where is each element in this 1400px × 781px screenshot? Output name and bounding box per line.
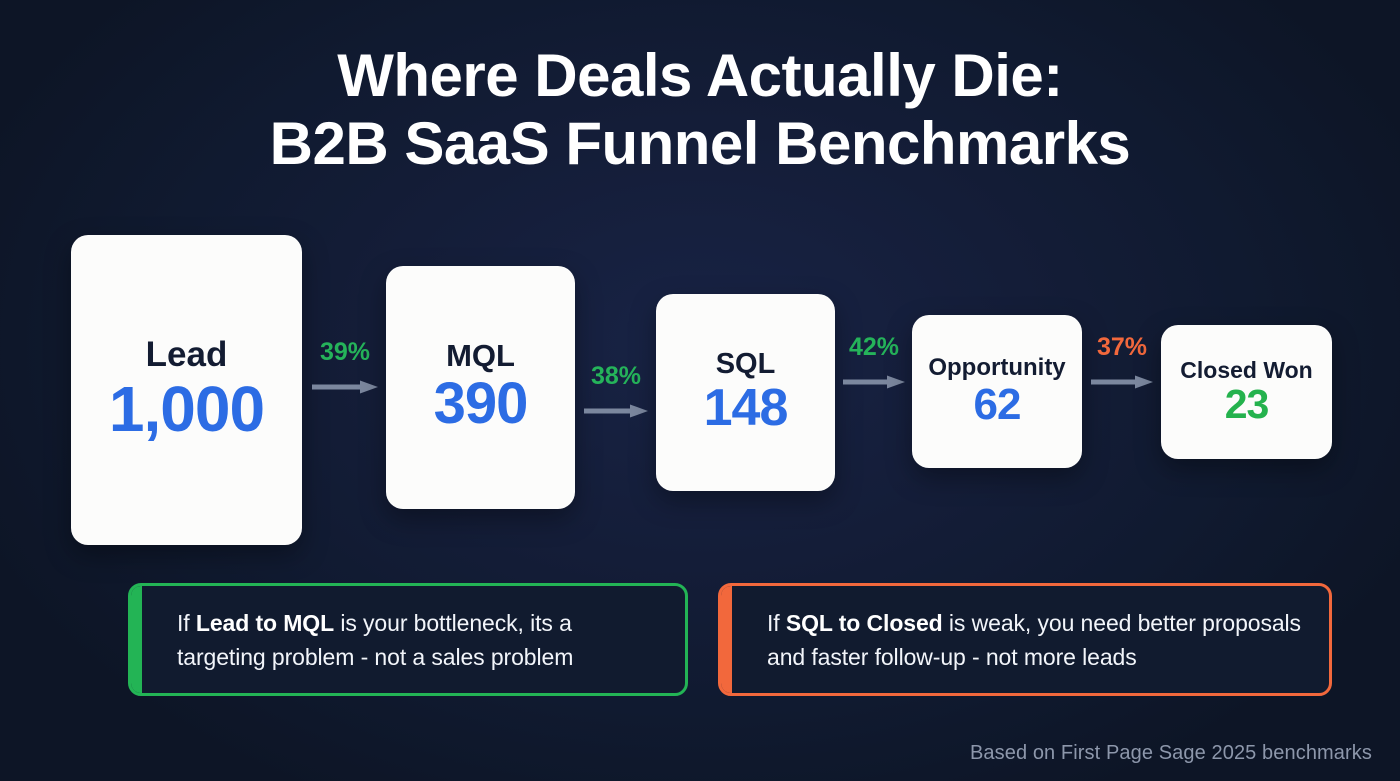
title-line-1: Where Deals Actually Die: [0, 42, 1400, 110]
funnel-connector-sql-to-opportunity: 42% [838, 335, 910, 389]
funnel-stage-lead: Lead 1,000 [71, 235, 302, 545]
arrow-right-icon [1091, 375, 1153, 389]
funnel-connector-lead-to-mql: 39% [306, 340, 384, 394]
conversion-rate-label: 42% [849, 335, 899, 360]
source-footnote: Based on First Page Sage 2025 benchmarks [970, 742, 1372, 765]
conversion-rate-label: 37% [1097, 335, 1147, 360]
arrow-right-icon [584, 404, 648, 418]
stage-label: Closed Won [1180, 358, 1312, 382]
funnel-stage-closed-won: Closed Won 23 [1161, 325, 1332, 459]
stage-value: 390 [434, 374, 528, 435]
callout-text: If SQL to Closed is weak, you need bette… [721, 606, 1329, 674]
infographic-root: Where Deals Actually Die: B2B SaaS Funne… [0, 0, 1400, 781]
stage-value: 148 [704, 381, 788, 436]
funnel-diagram: Lead 1,000 39% MQL 390 38% SQL [0, 235, 1400, 547]
callout-lead-to-mql: If Lead to MQL is your bottleneck, its a… [128, 583, 688, 696]
funnel-stage-mql: MQL 390 [386, 266, 575, 509]
page-title: Where Deals Actually Die: B2B SaaS Funne… [0, 42, 1400, 178]
stage-label: SQL [716, 349, 776, 379]
callouts-row: If Lead to MQL is your bottleneck, its a… [0, 583, 1400, 696]
stage-label: Opportunity [928, 355, 1065, 380]
stage-label: Lead [146, 337, 228, 374]
stage-value: 23 [1225, 383, 1269, 426]
funnel-connector-opportunity-to-closed-won: 37% [1086, 335, 1158, 389]
callout-bold: Lead to MQL [196, 610, 334, 636]
funnel-connector-mql-to-sql: 38% [578, 364, 654, 418]
stage-value: 62 [974, 382, 1021, 428]
arrow-right-icon [843, 375, 905, 389]
callout-accent-bar [721, 586, 732, 693]
funnel-stage-opportunity: Opportunity 62 [912, 315, 1082, 468]
callout-sql-to-closed: If SQL to Closed is weak, you need bette… [718, 583, 1332, 696]
arrow-right-icon [312, 380, 378, 394]
callout-text: If Lead to MQL is your bottleneck, its a… [131, 606, 685, 674]
funnel-stage-sql: SQL 148 [656, 294, 835, 491]
callout-prefix: If [767, 610, 786, 636]
conversion-rate-label: 39% [320, 340, 370, 365]
stage-label: MQL [446, 340, 515, 373]
title-line-2: B2B SaaS Funnel Benchmarks [0, 110, 1400, 178]
stage-value: 1,000 [109, 376, 264, 443]
callout-prefix: If [177, 610, 196, 636]
conversion-rate-label: 38% [591, 364, 641, 389]
callout-accent-bar [131, 586, 142, 693]
callout-bold: SQL to Closed [786, 610, 943, 636]
